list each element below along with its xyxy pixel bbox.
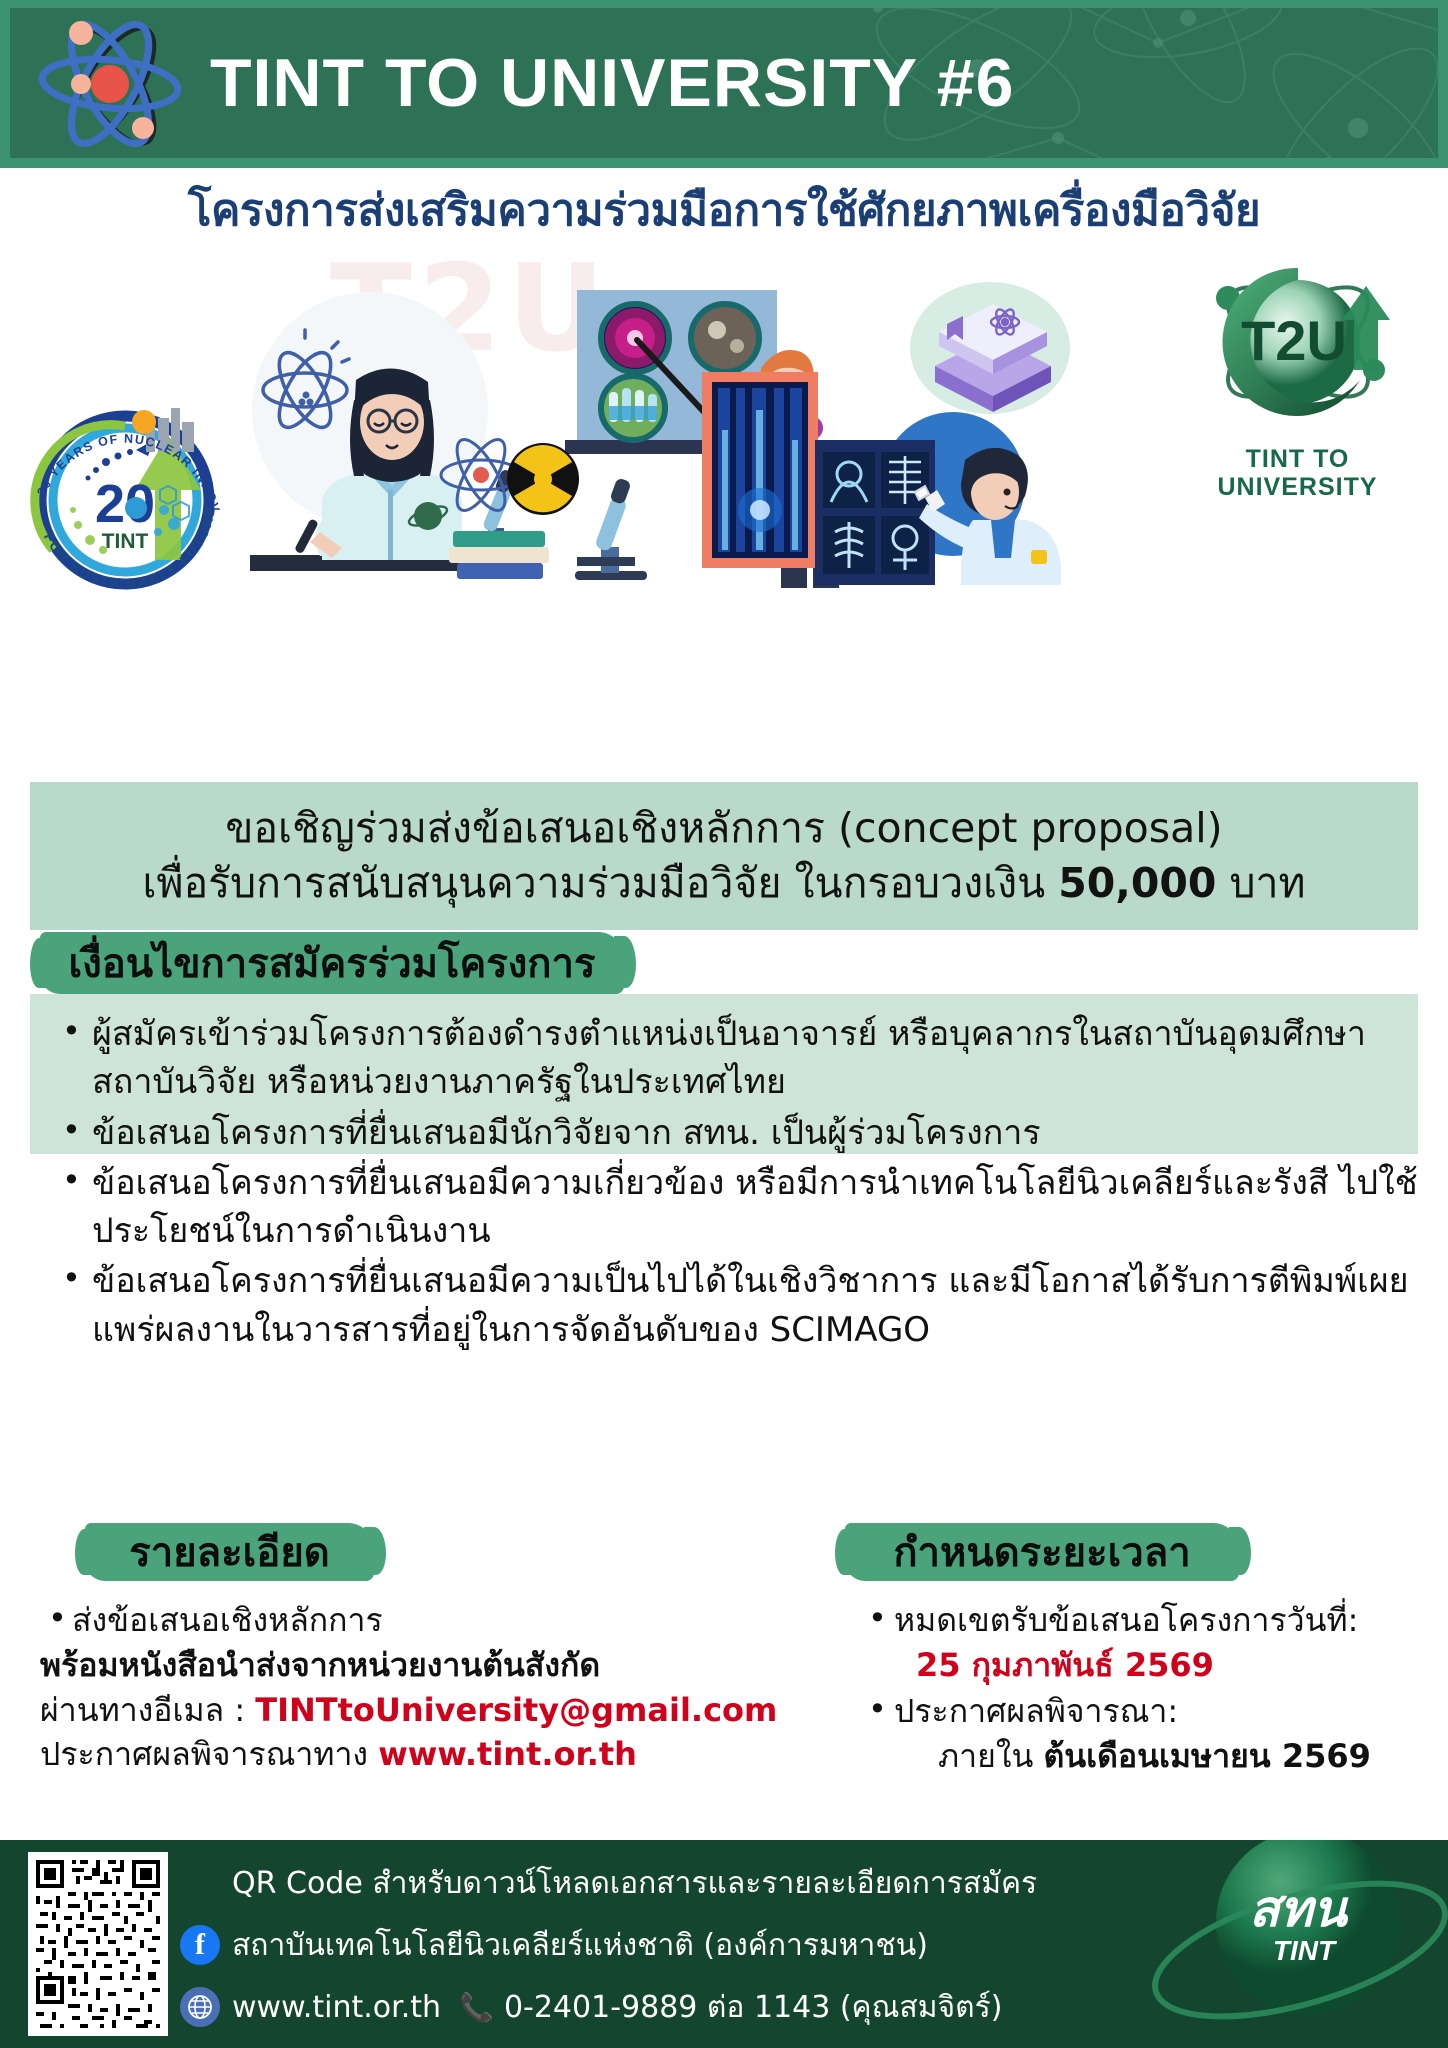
condition-item-1: ผู้สมัครเข้าร่วมโครงการต้องดำรงตำแหน่งเป… (92, 1010, 1447, 1107)
header-banner: TINT TO UNIVERSITY #6 (0, 0, 1448, 168)
phone-icon: 📞 (459, 1991, 494, 2024)
callout-amount: 50,000 (1058, 859, 1216, 907)
details-column: ส่งข้อเสนอเชิงหลักการ พร้อมหนังสือนำส่งจ… (40, 1598, 680, 1777)
timeline-deadline-date: 25 กุมภาพันธ์ 2569 (860, 1643, 1430, 1688)
footer-facebook-row[interactable]: f สถาบันเทคโนโลยีนิวเคลียร์แห่งชาติ (องค… (180, 1914, 1037, 1976)
timeline-announce-row: ภายใน ต้นเดือนเมษายน 2569 (860, 1734, 1430, 1779)
svg-text:T2U: T2U (1241, 309, 1347, 372)
callout-line-2-suffix: บาท (1216, 859, 1305, 907)
details-email-value[interactable]: TINTtoUniversity@gmail.com (255, 1691, 777, 1729)
details-bullet: ส่งข้อเสนอเชิงหลักการ (40, 1598, 680, 1643)
poster-root: TINT TO UNIVERSITY #6 โครงการส่งเสริมควา… (0, 0, 1448, 2048)
timeline-announce-date: ต้นเดือนเมษายน 2569 (1043, 1737, 1370, 1775)
footer-qr-caption-row: QR Code สำหรับดาวน์โหลดเอกสารและรายละเอี… (180, 1852, 1037, 1914)
timeline-column: หมดเขตรับข้อเสนอโครงการวันที่: 25 กุมภาพ… (860, 1598, 1430, 1780)
tint-logo-thai-text: สทน (1249, 1881, 1348, 1937)
logo-t2u-line2: UNIVERSITY (1170, 474, 1425, 500)
footer-contact-block: QR Code สำหรับดาวน์โหลดเอกสารและรายละเอี… (180, 1852, 1037, 2038)
subtitle: โครงการส่งเสริมความร่วมมือการใช้ศักยภาพเ… (0, 175, 1448, 245)
illustration-framed-image (700, 370, 820, 570)
callout-line-2-prefix: เพื่อรับการสนับสนุนความร่วมมือวิจัย ในกร… (142, 859, 1058, 907)
facebook-icon[interactable]: f (180, 1925, 220, 1965)
details-bold-line: พร้อมหนังสือนำส่งจากหน่วยงานต้นสังกัด (40, 1643, 680, 1688)
footer-facebook-label: สถาบันเทคโนโลยีนิวเคลียร์แห่งชาติ (องค์ก… (232, 1922, 928, 1969)
details-email-label: ผ่านทางอีเมล : (40, 1691, 255, 1729)
tint-logo-en-text: TINT (1273, 1935, 1338, 1966)
illustration-lab-objects (425, 435, 665, 590)
header-inner: TINT TO UNIVERSITY #6 (10, 8, 1438, 158)
svg-text:TINT: TINT (102, 530, 149, 553)
hero-illustration: T2U (0, 240, 1448, 585)
timeline-announce-prefix: ภายใน (938, 1737, 1043, 1775)
callout-line-2: เพื่อรับการสนับสนุนความร่วมมือวิจัย ในกร… (142, 856, 1305, 911)
page-title: TINT TO UNIVERSITY #6 (210, 44, 1014, 122)
logo-20-years: 20 YEARS OF NUCLEAR INNOVATION FOR SUSTA… (18, 390, 233, 605)
timeline-deadline-label: หมดเขตรับข้อเสนอโครงการวันที่: (860, 1598, 1430, 1643)
details-email-row: ผ่านทางอีเมล : TINTtoUniversity@gmail.co… (40, 1688, 680, 1733)
details-result-row: ประกาศผลพิจารณาทาง www.tint.or.th (40, 1732, 680, 1777)
details-result-label: ประกาศผลพิจารณาทาง (40, 1735, 378, 1773)
conditions-heading: เงื่อนไขการสมัครร่วมโครงการ (40, 932, 624, 994)
footer-phone: 0-2401-9889 ต่อ 1143 (คุณสมจิตร์) (504, 1984, 1002, 2031)
condition-item-2: ข้อเสนอโครงการที่ยื่นเสนอมีนักวิจัยจาก ส… (92, 1109, 1447, 1157)
footer-web-phone-row[interactable]: www.tint.or.th 📞 0-2401-9889 ต่อ 1143 (ค… (180, 1976, 1037, 2038)
atom-icon (28, 8, 198, 158)
details-heading: รายละเอียด (85, 1523, 374, 1581)
illustration-books (905, 270, 1075, 420)
globe-icon[interactable] (180, 1987, 220, 2027)
illustration-radiologist (815, 400, 1145, 585)
timeline-heading: กำหนดระยะเวลา (845, 1523, 1239, 1581)
footer-bar: สทน TINT (0, 1840, 1448, 2048)
callout-box: ขอเชิญร่วมส่งข้อเสนอเชิงหลักการ (concept… (30, 782, 1418, 930)
timeline-announce-label: ประกาศผลพิจารณา: (860, 1689, 1430, 1734)
details-result-url[interactable]: www.tint.or.th (378, 1735, 637, 1773)
conditions-list: ผู้สมัครเข้าร่วมโครงการต้องดำรงตำแหน่งเป… (48, 1010, 1447, 1356)
condition-item-4: ข้อเสนอโครงการที่ยื่นเสนอมีความเป็นไปได้… (92, 1257, 1447, 1354)
logo-t2u-line1: TINT TO (1170, 446, 1425, 472)
tint-sphere-logo: สทน TINT (1148, 1840, 1448, 2048)
footer-qr-caption: QR Code สำหรับดาวน์โหลดเอกสารและรายละเอี… (232, 1860, 1037, 1907)
logo-t2u: T2U TINT TO UNIVERSITY (1170, 250, 1425, 500)
footer-website[interactable]: www.tint.or.th (232, 1990, 441, 2025)
callout-line-1: ขอเชิญร่วมส่งข้อเสนอเชิงหลักการ (concept… (225, 801, 1222, 856)
condition-item-3: ข้อเสนอโครงการที่ยื่นเสนอมีความเกี่ยวข้อ… (92, 1159, 1447, 1256)
qr-code[interactable] (28, 1852, 168, 2036)
